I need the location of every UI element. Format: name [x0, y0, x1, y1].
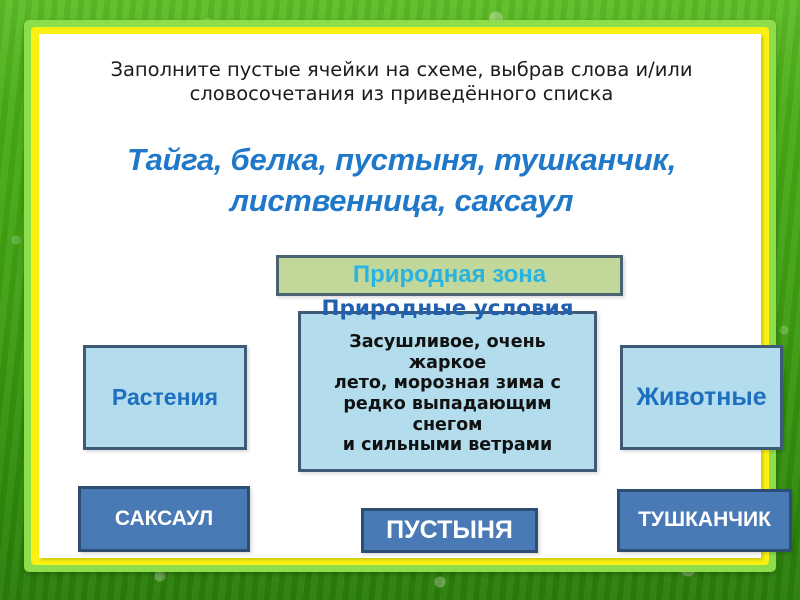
natural-conditions-text: Засушливое, очень жаркое лето, морозная … [314, 332, 582, 456]
plants-label: Растения [112, 384, 218, 411]
plants-box[interactable]: Растения [83, 345, 247, 450]
natural-conditions-box[interactable]: Засушливое, очень жаркое лето, морозная … [298, 311, 597, 472]
animals-label: Животные [636, 383, 766, 412]
answer-chip-saksaul[interactable]: САКСАУЛ [78, 486, 250, 552]
animals-box[interactable]: Животные [620, 345, 783, 450]
slide-content-canvas: Заполните пустые ячейки на схеме, выбрав… [39, 34, 761, 558]
answer-chip-saksaul-label: САКСАУЛ [115, 507, 213, 531]
word-list-heading: Тайга, белка, пустыня, тушканчик, листве… [64, 140, 739, 222]
natural-zone-label: Природная зона [353, 261, 546, 289]
answer-chip-pustynya[interactable]: ПУСТЫНЯ [361, 508, 538, 553]
answer-chip-pustynya-label: ПУСТЫНЯ [386, 516, 513, 545]
slide-background: Заполните пустые ячейки на схеме, выбрав… [0, 0, 800, 600]
instruction-text: Заполните пустые ячейки на схеме, выбрав… [69, 58, 734, 108]
natural-zone-box[interactable]: Природная зона [276, 255, 623, 296]
natural-conditions-caption: Природные условия [298, 296, 597, 321]
answer-chip-tushkanchik[interactable]: ТУШКАНЧИК [617, 489, 792, 552]
answer-chip-tushkanchik-label: ТУШКАНЧИК [638, 508, 771, 532]
